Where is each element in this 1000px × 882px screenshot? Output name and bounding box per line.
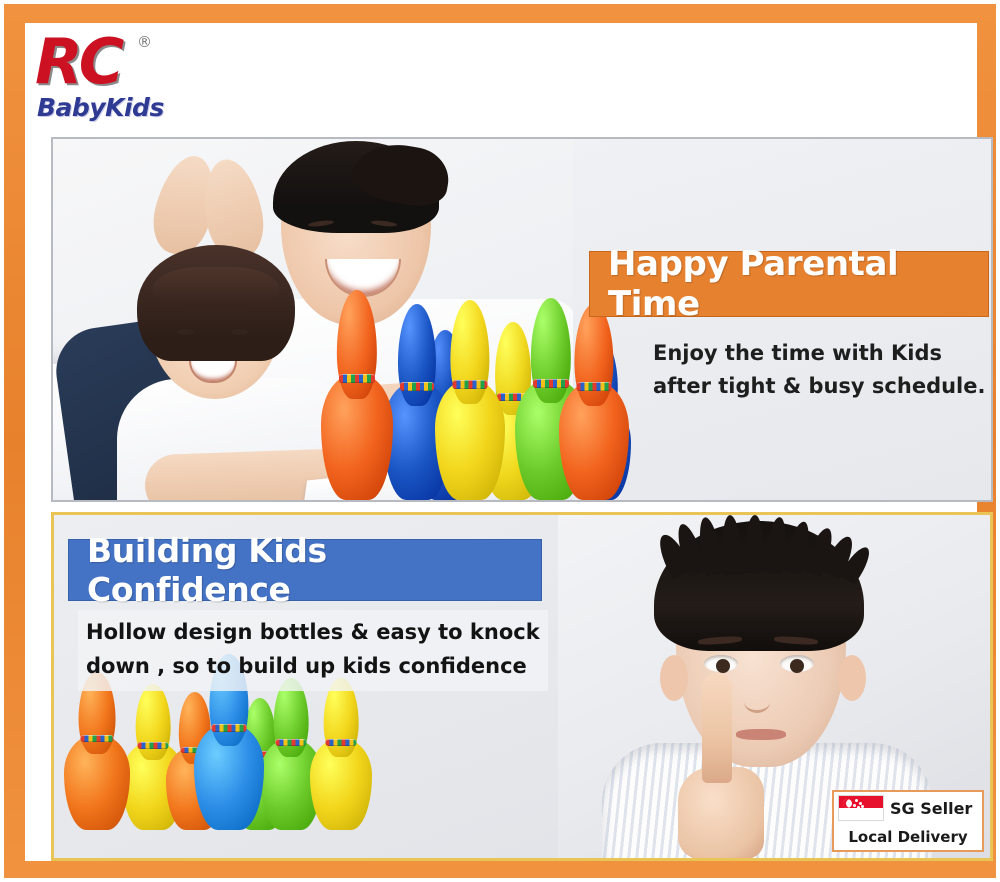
pin-body	[122, 742, 184, 830]
bowling-pin	[260, 678, 322, 830]
product-listing-image: RC ® BabyKids	[0, 0, 1000, 882]
family-photo	[53, 139, 573, 500]
banner-building-kids-confidence: Building Kids Confidence	[68, 539, 542, 601]
pin-neck	[179, 692, 211, 764]
flag-white-band	[839, 808, 883, 820]
flag-star-3	[853, 804, 856, 807]
pin-stripe-band	[326, 739, 357, 746]
pin-stripe-band	[81, 735, 114, 742]
hair-spike	[743, 515, 765, 573]
flag-star-5	[861, 805, 864, 808]
banner-happy-parental-time-label: Happy Parental Time	[608, 244, 988, 324]
pin-stripe-band	[588, 404, 617, 411]
local-delivery-label: Local Delivery	[834, 824, 982, 850]
pin-body	[260, 739, 322, 830]
bowling-pin	[573, 340, 631, 500]
girl-eye-right	[231, 329, 248, 335]
singapore-flag-icon	[838, 795, 884, 821]
bottom-feature-panel: SG Seller Local Delivery Building Kids C…	[51, 512, 993, 861]
sg-seller-label: SG Seller	[884, 799, 972, 818]
hair-spike	[720, 515, 744, 576]
pin-neck	[586, 340, 618, 423]
bottom-subtext-line-2: down , so to build up kids confidence	[86, 650, 544, 684]
flag-star-1	[855, 799, 858, 802]
top-feature-panel: Happy Parental Time Enjoy the time with …	[51, 137, 993, 502]
pin-stripe-band	[577, 382, 612, 391]
outer-orange-frame: RC ® BabyKids	[4, 4, 996, 878]
thumbs-up-icon	[702, 673, 732, 783]
top-subtext-line-2: after tight & busy schedule.	[653, 370, 993, 403]
girl-eye-left	[177, 329, 194, 335]
banner-happy-parental-time: Happy Parental Time	[589, 251, 989, 317]
pin-body	[166, 747, 224, 830]
boy-pupil-right	[790, 659, 804, 673]
sg-seller-badge: SG Seller Local Delivery	[832, 790, 984, 852]
pin-body	[573, 404, 631, 500]
bowling-pin	[166, 692, 224, 830]
pin-body	[194, 724, 264, 830]
flag-star-4	[857, 806, 860, 809]
pin-stripe-band	[212, 724, 247, 732]
logo-rc-text: RC	[35, 31, 120, 93]
pin-body	[232, 751, 288, 830]
pin-stripe-band	[138, 742, 169, 749]
boy-pupil-left	[716, 659, 730, 673]
pin-stripe-band	[246, 751, 274, 757]
pin-body	[310, 739, 372, 830]
logo-babykids-text: BabyKids	[37, 95, 164, 120]
top-subtext: Enjoy the time with Kids after tight & b…	[653, 337, 993, 402]
bowling-pin	[310, 678, 372, 830]
pin-body	[64, 735, 130, 830]
registered-trademark-icon: ®	[137, 33, 152, 51]
banner-building-kids-confidence-label: Building Kids Confidence	[87, 531, 541, 609]
child-feet	[157, 155, 273, 259]
bowling-pin	[64, 672, 130, 830]
bowling-pin	[232, 698, 288, 830]
sg-badge-row-top: SG Seller	[834, 792, 982, 824]
flag-crescent	[843, 799, 852, 808]
pin-neck	[136, 684, 171, 760]
bottom-subtext: Hollow design bottles & easy to knock do…	[78, 610, 548, 691]
pin-stripe-band	[181, 747, 210, 753]
pin-stripe-band	[276, 739, 307, 746]
pin-neck	[244, 698, 275, 767]
top-subtext-line-1: Enjoy the time with Kids	[653, 337, 993, 370]
girl-bangs	[153, 267, 279, 307]
inner-white-canvas: RC ® BabyKids	[25, 23, 977, 861]
bottom-subtext-line-1: Hollow design bottles & easy to knock	[86, 616, 544, 650]
boy-nose	[744, 691, 770, 713]
boy-photo: SG Seller Local Delivery	[558, 515, 990, 858]
boy-mouth	[736, 729, 786, 740]
bowling-pin	[122, 684, 184, 830]
brand-logo: RC ® BabyKids	[25, 23, 385, 123]
